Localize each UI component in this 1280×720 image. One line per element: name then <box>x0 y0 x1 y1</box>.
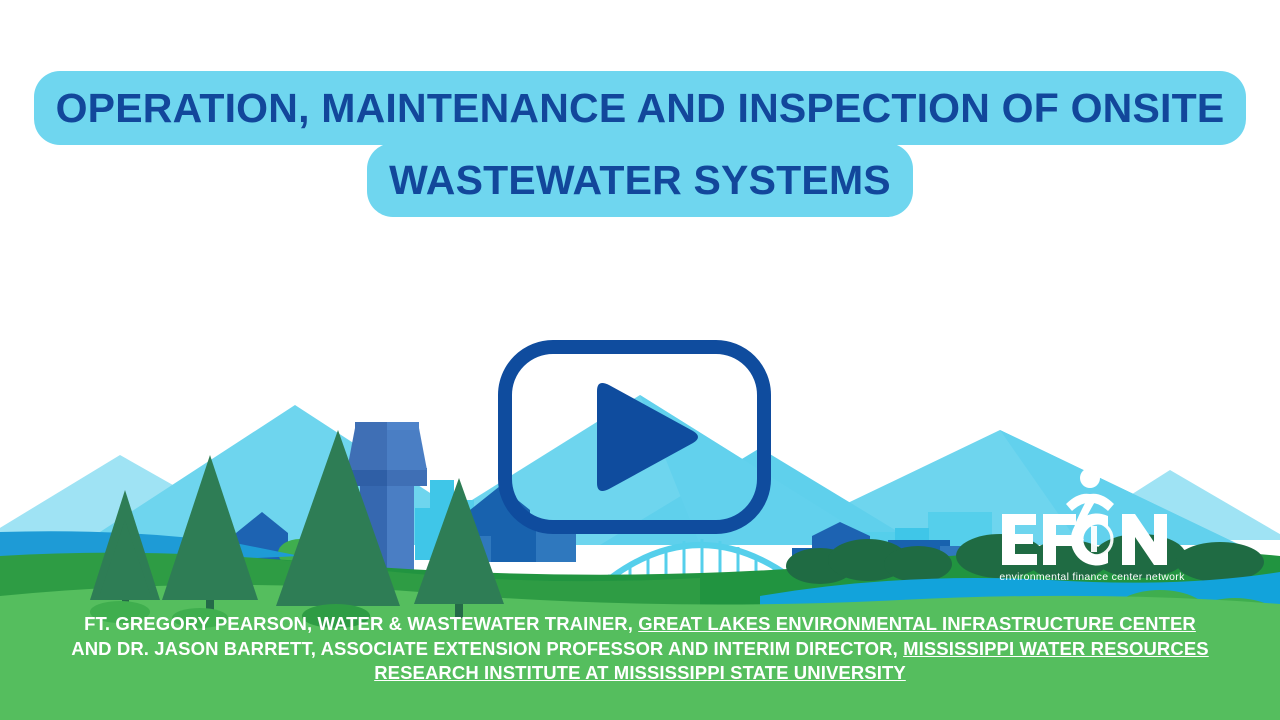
presenter-caption: FT. GREGORY PEARSON, WATER & WASTEWATER … <box>64 612 1216 686</box>
page-title: Operation, Maintenance and Inspection of… <box>0 72 1280 216</box>
efcn-acronym <box>1002 514 1167 566</box>
efcn-logo: environmental finance center network <box>996 464 1188 586</box>
slide-title-block: Operation, Maintenance and Inspection of… <box>0 72 1280 216</box>
play-triangle-icon <box>597 383 698 491</box>
slide-title-text: Operation, Maintenance and Inspection of… <box>34 71 1247 217</box>
logo-tagline: environmental finance center network <box>999 571 1185 583</box>
caption-plain-1: FT. GREGORY PEARSON, WATER & WASTEWATER … <box>84 613 638 634</box>
caption-plain-2: AND DR. JASON BARRETT, ASSOCIATE EXTENSI… <box>71 638 903 659</box>
caption-link-1[interactable]: GREAT LAKES ENVIRONMENTAL INFRASTRUCTURE… <box>638 613 1196 634</box>
presentation-slide: Operation, Maintenance and Inspection of… <box>0 0 1280 720</box>
play-video-button[interactable] <box>497 339 772 535</box>
